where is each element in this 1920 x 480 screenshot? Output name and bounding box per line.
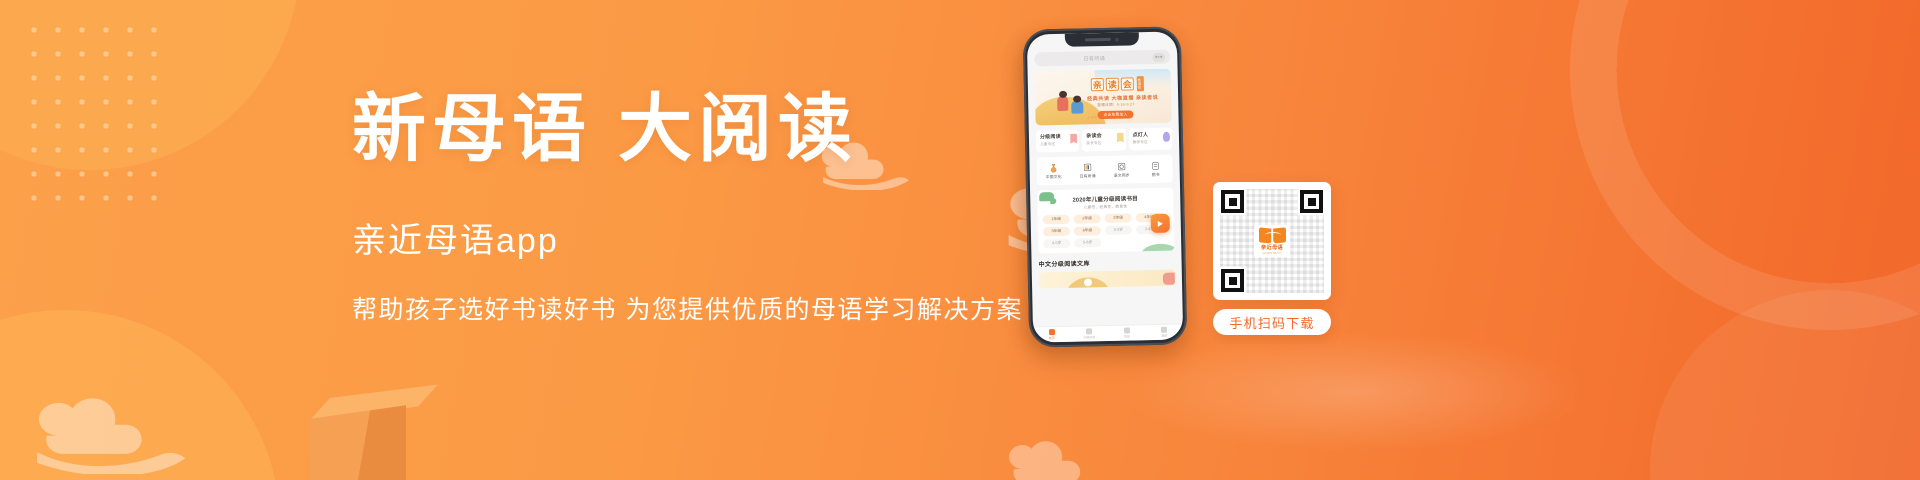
app-home-screen: 日有所诵 亲 读 会 亲读会 经典共读 大咖直播 亲读者说 直播日期：9 [1027, 31, 1182, 288]
tab-discover[interactable]: 发现 [1108, 327, 1146, 339]
phone-mockup: 日有所诵 亲 读 会 亲读会 经典共读 大咖直播 亲读者说 直播日期：9 [1023, 26, 1188, 347]
grade-chip[interactable]: 3年级 [1105, 213, 1132, 223]
open-book-icon [1259, 228, 1286, 243]
booklist-card: 2020年儿童分级阅读书目 儿童性、经典性、教育性 1年级 2年级 3年级 4年… [1037, 188, 1174, 254]
quick-link-label: 语文同步 [1114, 173, 1130, 178]
headline-part-2: 大阅读 [618, 86, 858, 172]
book-stack-icon [1086, 328, 1092, 334]
category-card-teacher-zone[interactable]: 点灯人 教师专区 [1128, 128, 1172, 151]
booklist-subtitle: 儿童性、经典性、教育性 [1042, 204, 1168, 212]
category-subtitle: 儿童专区 [1040, 141, 1075, 147]
tab-mine[interactable]: 我的 [1145, 326, 1183, 338]
carousel-dots[interactable] [1088, 116, 1097, 118]
user-icon [1161, 327, 1167, 333]
grade-chip[interactable]: 5年级 [1043, 227, 1070, 237]
scan-to-download-button[interactable]: 手机扫码下载 [1213, 309, 1331, 335]
age-chip[interactable]: 0-3岁 [1105, 225, 1132, 235]
more-options-icon[interactable] [1152, 52, 1165, 61]
search-placeholder: 日有所诵 [1039, 54, 1149, 63]
hero-date: 直播日期：9.16-9.27 [1097, 102, 1134, 108]
ruyi-cloud-icon [28, 392, 228, 474]
app-name-subtitle: 亲近母语app [352, 213, 1052, 262]
search-input[interactable]: 日有所诵 [1034, 50, 1170, 67]
culture-vase-icon [1048, 162, 1058, 172]
quick-link-label: 中国文化 [1046, 174, 1062, 179]
category-title: 分级阅读 [1040, 133, 1075, 141]
circle-blob-top-left-decoration [0, 0, 300, 170]
front-camera-icon [1115, 37, 1119, 41]
brand-name-pinyin: QINJIN MUYU [1262, 252, 1281, 255]
section-title-library: 中文分级阅读文库 [1039, 257, 1175, 269]
quick-link-sync[interactable]: 语文同步 [1104, 161, 1138, 179]
age-chip[interactable]: 5-6岁 [1074, 238, 1101, 248]
qr-code-image: 亲近母语 QINJIN MUYU [1220, 189, 1324, 293]
tab-label: 我的 [1161, 334, 1167, 338]
hero-title-char: 读 [1106, 78, 1119, 91]
brand-logo: 亲近母语 QINJIN MUYU [1254, 225, 1290, 257]
category-cards: 分级阅读 儿童专区 亲读会 家长专区 点灯人 教师专区 [1036, 128, 1172, 153]
quick-link-books[interactable]: 图书 [1138, 160, 1172, 178]
tagline: 帮助孩子选好书读好书 为您提供优质的母语学习解决方案 [352, 290, 1052, 326]
page-title: 新母语大阅读 [352, 88, 1052, 171]
category-card-graded-reading[interactable]: 分级阅读 儿童专区 [1036, 130, 1080, 153]
arc-decoration [1065, 277, 1111, 289]
quick-link-label: 图书 [1152, 172, 1160, 177]
video-play-icon[interactable] [1151, 214, 1170, 233]
grade-chip[interactable]: 1年级 [1043, 215, 1070, 225]
quick-link-culture[interactable]: 中国文化 [1036, 162, 1070, 180]
hero-title-char: 会 [1121, 77, 1134, 90]
hero-child-illustration [1071, 100, 1083, 113]
hero-title: 亲 读 会 亲读会 [1091, 76, 1144, 92]
dot-grid-decoration [22, 18, 164, 204]
leaf-decoration [1039, 192, 1054, 201]
category-subtitle: 家长专区 [1086, 140, 1121, 146]
book-icon [1150, 160, 1160, 170]
tab-label: 分级阅读 [1083, 335, 1095, 339]
ring-decoration [1570, 0, 1920, 330]
category-card-parent-club[interactable]: 亲读会 家长专区 [1082, 129, 1126, 152]
sync-circle-icon [1116, 161, 1126, 171]
tag-decoration [1163, 273, 1175, 285]
cube-top-face-decoration [310, 385, 438, 420]
compass-icon [1124, 328, 1130, 334]
age-chip[interactable]: 4-5岁 [1043, 239, 1070, 249]
hero-title-char: 亲 [1091, 78, 1104, 91]
brand-name: 亲近母语 [1261, 244, 1283, 251]
library-promo-card[interactable] [1039, 270, 1175, 289]
headline-part-1: 新母语 [352, 86, 592, 172]
promo-banner: 新母语大阅读 亲近母语app 帮助孩子选好书读好书 为您提供优质的母语学习解决方… [0, 0, 1920, 480]
hero-join-button[interactable]: 点击免费加入 [1097, 110, 1133, 119]
ruyi-cloud-icon [1000, 436, 1150, 480]
recite-book-icon [1082, 162, 1092, 172]
category-title: 亲读会 [1086, 132, 1121, 140]
speaker-grille-icon [1085, 38, 1111, 41]
cloud-shape-icon [1163, 132, 1170, 142]
cube-decoration [310, 405, 406, 480]
circle-blob-bottom-right-decoration [1650, 290, 1920, 480]
tab-graded-reading[interactable]: 分级阅读 [1070, 328, 1108, 340]
quick-link-row: 中国文化 日有所诵 语文同步 [1036, 155, 1173, 186]
quick-link-label: 日有所诵 [1080, 174, 1096, 179]
grade-chip[interactable]: 2年级 [1074, 214, 1101, 224]
tab-label: 首页 [1049, 336, 1055, 340]
quick-link-recite[interactable]: 日有所诵 [1070, 162, 1104, 180]
qr-finder-pattern [1221, 190, 1244, 213]
qr-finder-pattern [1300, 190, 1323, 213]
grade-chip[interactable]: 6年级 [1074, 226, 1101, 236]
glow-ellipse-decoration [1120, 332, 1590, 452]
phone-notch [1065, 32, 1139, 47]
hero-badge: 亲读会 [1137, 76, 1144, 91]
bottom-tabbar: 首页 分级阅读 发现 我的 [1033, 323, 1183, 342]
hero-child-illustration [1057, 96, 1068, 111]
qr-code-card: 亲近母语 QINJIN MUYU [1213, 182, 1331, 300]
tab-label: 发现 [1124, 335, 1130, 339]
circle-blob-bottom-left-decoration [0, 310, 280, 480]
home-icon [1049, 329, 1055, 335]
hero-subtitle: 经典共读 大咖直播 亲读者说 [1087, 94, 1158, 102]
qr-finder-pattern [1221, 269, 1244, 292]
phone-screen: 日有所诵 亲 读 会 亲读会 经典共读 大咖直播 亲读者说 直播日期：9 [1027, 31, 1183, 342]
tab-home[interactable]: 首页 [1033, 329, 1071, 341]
booklist-title: 2020年儿童分级阅读书目 [1042, 194, 1168, 205]
hero-banner-card[interactable]: 亲 读 会 亲读会 经典共读 大咖直播 亲读者说 直播日期：9.16-9.27 … [1035, 69, 1172, 126]
banner-copy: 新母语大阅读 亲近母语app 帮助孩子选好书读好书 为您提供优质的母语学习解决方… [352, 88, 1052, 326]
